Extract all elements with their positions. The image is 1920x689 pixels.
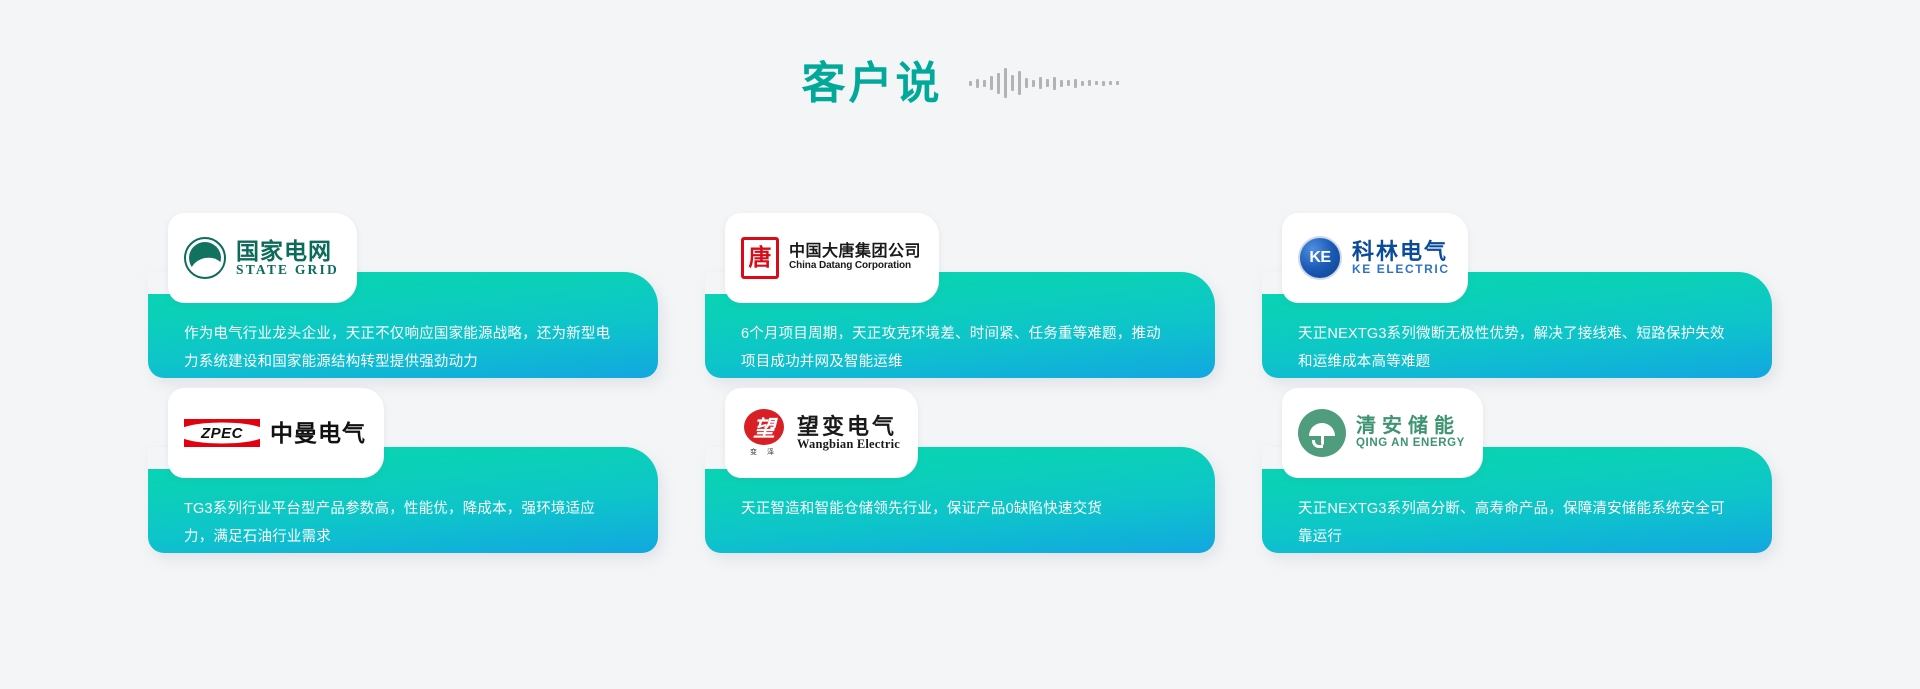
card-corner-notch [148, 447, 170, 469]
brand-name-cn: 清安储能 [1356, 416, 1465, 437]
waveform-bar [1025, 78, 1028, 88]
brand-logo-text: 清安储能QING AN ENERGY [1356, 416, 1465, 449]
testimonial-quote: TG3系列行业平台型产品参数高，性能优，降成本，强环境适应力，满足石油行业需求 [184, 495, 614, 551]
waveform-bar [1109, 81, 1112, 85]
waveform-bar [1032, 80, 1035, 87]
brand-name-cn: 科林电气 [1352, 240, 1450, 263]
testimonial-card-grid: 国家电网STATE GRID作为电气行业龙头企业，天正不仅响应国家能源战略，还为… [148, 213, 1772, 553]
testimonial-card[interactable]: 望变 泽望变电气Wangbian Electric天正智造和智能仓储领先行业，保… [705, 388, 1215, 553]
brand-name-cn: 中曼电气 [270, 421, 366, 445]
section-header: 客户说 [0, 0, 1920, 106]
china-datang-seal-icon: 唐 [741, 237, 779, 279]
waveform-bar [1088, 80, 1091, 86]
card-corner-notch [1262, 447, 1284, 469]
brand-logo-badge: 望变 泽望变电气Wangbian Electric [725, 388, 918, 478]
brand-logo-text: 中国大唐集团公司China Datang Corporation [789, 244, 921, 271]
card-corner-notch [148, 272, 170, 294]
waveform-bar [1046, 79, 1049, 87]
testimonial-quote: 天正NEXTG3系列高分断、高寿命产品，保障清安储能系统安全可靠运行 [1298, 495, 1728, 551]
waveform-bar [1074, 79, 1077, 88]
waveform-bar [976, 79, 979, 88]
waveform-bar [983, 80, 986, 87]
brand-logo-text: 国家电网STATE GRID [236, 239, 339, 277]
waveform-bar [1060, 80, 1063, 87]
state-grid-globe-icon [184, 237, 226, 279]
brand-logo-text: 中曼电气 [270, 421, 366, 445]
brand-logo-text: 望变电气Wangbian Electric [797, 415, 900, 451]
waveform-bar [1018, 71, 1021, 95]
waveform-bar [1053, 77, 1056, 90]
testimonial-quote: 作为电气行业龙头企业，天正不仅响应国家能源战略，还为新型电力系统建设和国家能源结… [184, 320, 614, 376]
brand-logo-badge: ZPEC中曼电气 [168, 388, 384, 478]
card-corner-notch [705, 447, 727, 469]
waveform-bar [1116, 81, 1119, 85]
brand-logo-badge: KE科林电气KE ELECTRIC [1282, 213, 1468, 303]
waveform-bar [1039, 77, 1042, 89]
brand-logo-badge: 唐中国大唐集团公司China Datang Corporation [725, 213, 939, 303]
brand-name-cn: 望变电气 [797, 415, 900, 438]
page-title: 客户说 [802, 62, 943, 106]
testimonial-quote: 天正NEXTG3系列微断无极性优势，解决了接线难、短路保护失效和运维成本高等难题 [1298, 320, 1728, 376]
brand-name-en: KE ELECTRIC [1352, 263, 1450, 276]
waveform-bar [969, 81, 972, 86]
testimonial-quote: 6个月项目周期，天正攻克环境差、时间紧、任务重等难题，推动项目成功并网及智能运维 [741, 320, 1171, 376]
waveform-bar [990, 76, 993, 90]
waveform-bar [1004, 68, 1007, 98]
testimonial-card[interactable]: ZPEC中曼电气TG3系列行业平台型产品参数高，性能优，降成本，强环境适应力，满… [148, 388, 658, 553]
waveform-bar [1095, 81, 1098, 85]
testimonial-card[interactable]: 国家电网STATE GRID作为电气行业龙头企业，天正不仅响应国家能源战略，还为… [148, 213, 658, 378]
brand-name-cn: 中国大唐集团公司 [789, 244, 921, 261]
brand-name-en: China Datang Corporation [789, 261, 921, 272]
testimonial-card[interactable]: KE科林电气KE ELECTRIC天正NEXTG3系列微断无极性优势，解决了接线… [1262, 213, 1772, 378]
brand-name-cn: 国家电网 [236, 239, 339, 263]
qing-an-energy-umbrella-icon [1298, 409, 1346, 457]
brand-name-en: QING AN ENERGY [1356, 437, 1465, 449]
audio-waveform-icon [969, 62, 1119, 106]
waveform-bar [1102, 81, 1105, 86]
brand-name-en: STATE GRID [236, 263, 339, 277]
testimonial-card[interactable]: 唐中国大唐集团公司China Datang Corporation6个月项目周期… [705, 213, 1215, 378]
testimonial-card[interactable]: 清安储能QING AN ENERGY天正NEXTG3系列高分断、高寿命产品，保障… [1262, 388, 1772, 553]
testimonial-quote: 天正智造和智能仓储领先行业，保证产品0缺陷快速交货 [741, 495, 1171, 523]
wangbian-disc-icon: 望变 泽 [741, 409, 787, 457]
waveform-bar [997, 73, 1000, 94]
brand-logo-badge: 清安储能QING AN ENERGY [1282, 388, 1483, 478]
waveform-bar [1081, 81, 1084, 86]
ke-electric-circle-icon: KE [1298, 236, 1342, 280]
card-corner-notch [705, 272, 727, 294]
brand-logo-badge: 国家电网STATE GRID [168, 213, 357, 303]
zpec-wordmark-icon: ZPEC [184, 419, 260, 447]
brand-name-en: Wangbian Electric [797, 438, 900, 451]
card-corner-notch [1262, 272, 1284, 294]
brand-logo-text: 科林电气KE ELECTRIC [1352, 240, 1450, 276]
waveform-bar [1067, 80, 1070, 86]
waveform-bar [1011, 75, 1014, 91]
